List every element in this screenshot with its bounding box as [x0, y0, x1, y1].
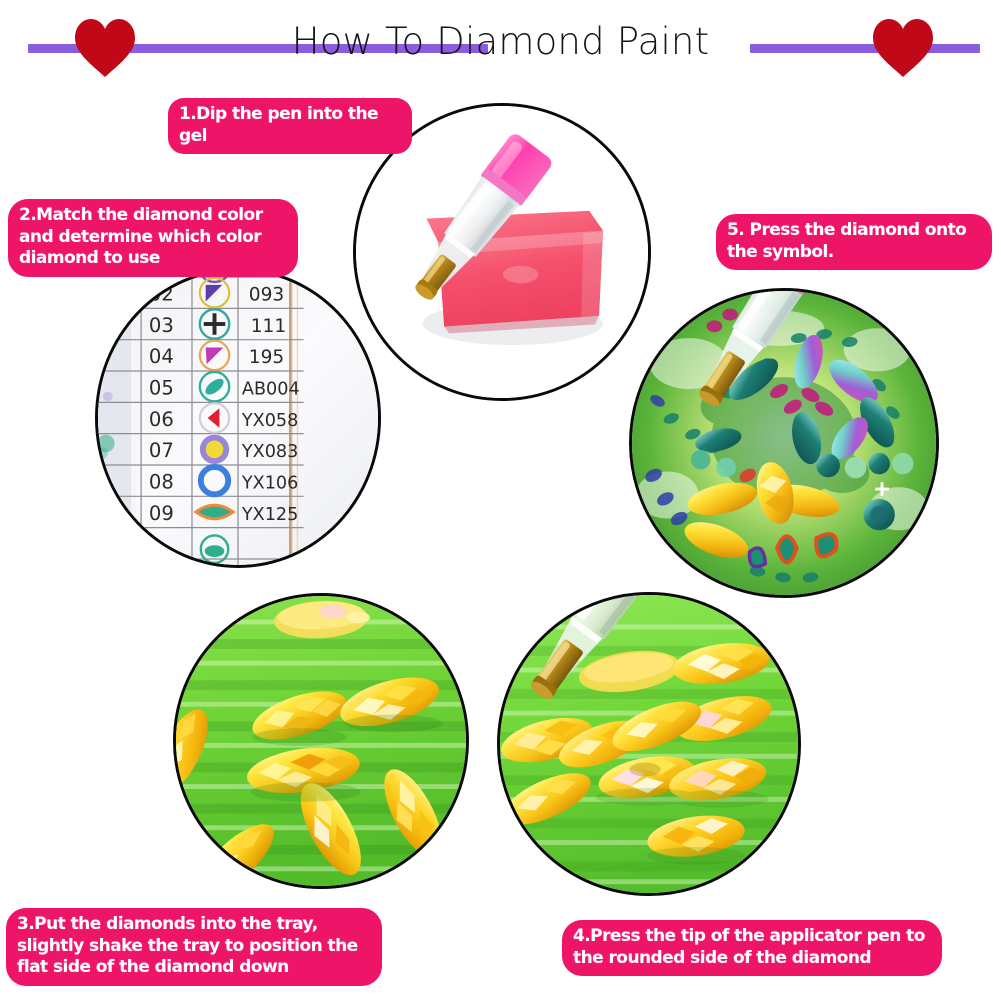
svg-text:YX106: YX106: [241, 473, 298, 493]
step-5-label: 5. Press the diamond onto the symbol.: [716, 214, 992, 270]
svg-text:04: 04: [149, 345, 174, 368]
photo-inner: [176, 596, 466, 886]
svg-text:06: 06: [149, 408, 174, 431]
svg-text:111: 111: [251, 316, 286, 337]
svg-text:YX083: YX083: [241, 442, 298, 462]
photo-color-symbol-chart: 020 02 093 03 111: [95, 268, 381, 568]
svg-text:YX125: YX125: [241, 505, 298, 525]
photo-inner: 020 02 093 03 111: [98, 271, 378, 565]
svg-text:02: 02: [149, 283, 174, 306]
svg-text:YX058: YX058: [241, 411, 298, 431]
svg-text:AB004: AB004: [242, 380, 300, 400]
step-4-label: 4.Press the tip of the applicator pen to…: [562, 920, 942, 976]
svg-text:195: 195: [249, 347, 285, 368]
infographic-page: How To Diamond Paint: [0, 0, 1001, 1001]
svg-text:05: 05: [149, 377, 174, 400]
svg-text:09: 09: [149, 502, 174, 525]
svg-text:07: 07: [149, 439, 174, 462]
svg-text:093: 093: [249, 285, 285, 306]
photo-yellow-diamonds-in-green-tray: [173, 593, 469, 889]
svg-text:08: 08: [149, 470, 174, 493]
photo-placing-diamond-on-canvas: [629, 288, 939, 598]
svg-text:03: 03: [149, 314, 174, 337]
step-1-label: 1.Dip the pen into the gel: [168, 98, 412, 154]
photo-inner: [632, 291, 936, 595]
step-2-label: 2.Match the diamond color and determine …: [8, 199, 298, 277]
page-title: How To Diamond Paint: [0, 20, 1001, 64]
header: How To Diamond Paint: [0, 0, 1001, 90]
photo-inner: [500, 595, 798, 893]
step-3-label: 3.Put the diamonds into the tray, slight…: [6, 908, 382, 986]
photo-pen-picking-up-diamond: [497, 592, 801, 896]
